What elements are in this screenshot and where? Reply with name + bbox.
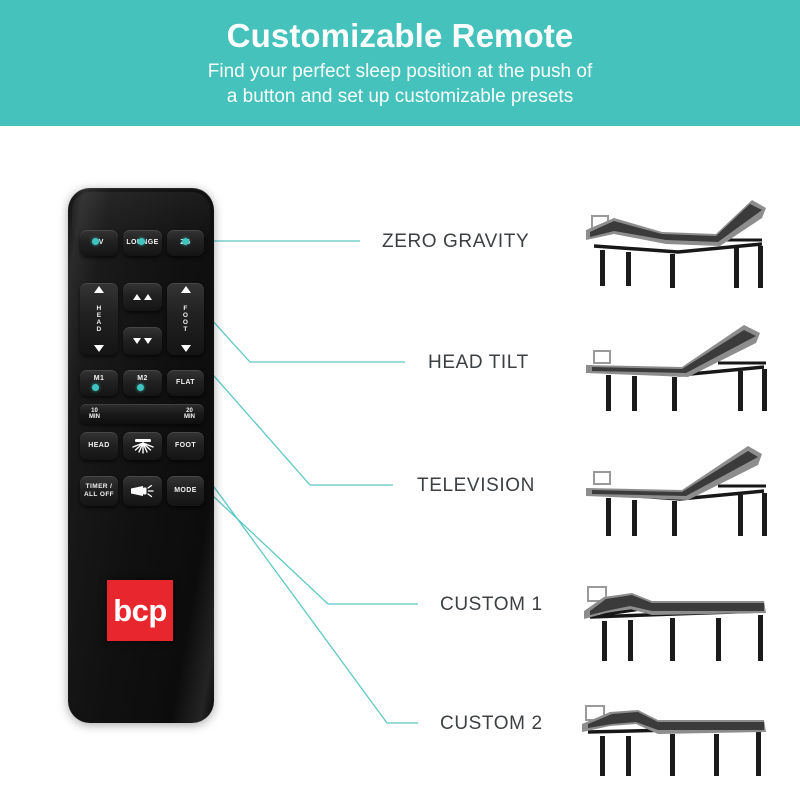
triangle-down-icon (94, 345, 104, 352)
remote-button-mode[interactable]: MODE (167, 476, 204, 506)
remote-button-m2-label: M2 (137, 375, 148, 383)
remote-button-flat[interactable]: FLAT (167, 370, 204, 396)
triangle-up-icon (94, 286, 104, 293)
feature-label-custom-2: CUSTOM 2 (440, 713, 543, 735)
header-subtitle-line-1: Find your perfect sleep position at the … (208, 59, 592, 84)
callout-dot-tv (92, 238, 99, 245)
page-root: Customizable Remote Find your perfect sl… (0, 0, 800, 800)
feature-label-head-tilt: HEAD TILT (428, 352, 529, 374)
remote-button-foot-adjust-label: FOOT (183, 305, 188, 333)
header-subtitle-line-2: a button and set up customizable presets (227, 84, 573, 109)
remote-button-massage-head[interactable]: HEAD (80, 432, 118, 460)
remote-button-timer-all-off[interactable]: TIMER / ALL OFF (80, 476, 118, 506)
feature-label-custom-1: CUSTOM 1 (440, 594, 543, 616)
remote-button-mode-label: MODE (174, 487, 197, 495)
remote-button-flashlight[interactable] (123, 476, 162, 506)
bed-illustration-head-tilt (566, 313, 790, 421)
triangle-up-icon (181, 286, 191, 293)
remote-control: TV LOUNGE ZG HEAD (68, 188, 214, 723)
remote-button-flat-label: FLAT (176, 379, 195, 387)
remote-timer-strip[interactable]: 10 MIN 20 MIN (80, 404, 204, 424)
callout-dot-m2 (137, 384, 144, 391)
remote-button-head-adjust[interactable]: HEAD (80, 283, 118, 355)
remote-button-timer-all-off-label: TIMER / ALL OFF (84, 483, 114, 499)
remote-button-head-adjust-label: HEAD (97, 305, 102, 333)
massage-waves-icon (130, 437, 156, 455)
header-banner: Customizable Remote Find your perfect sl… (0, 0, 800, 126)
page-title: Customizable Remote (227, 16, 574, 56)
bed-illustration-custom-2 (566, 678, 790, 786)
bcp-logo-text: bcp (113, 595, 167, 626)
remote-button-massage-head-label: HEAD (88, 442, 109, 450)
double-triangle-down-icon (133, 338, 152, 344)
feature-label-television: TELEVISION (417, 475, 535, 497)
timer-20min-label: 20 MIN (184, 408, 195, 421)
bed-illustration-zero-gravity (566, 188, 790, 296)
remote-button-foot-adjust[interactable]: FOOT (167, 283, 204, 355)
remote-button-tv[interactable]: TV (80, 230, 118, 256)
callout-dot-m1 (92, 384, 99, 391)
remote-button-double-down[interactable] (123, 327, 162, 355)
remote-button-m2[interactable]: M2 (123, 370, 162, 396)
flashlight-icon (129, 483, 157, 499)
remote-button-m1[interactable]: M1 (80, 370, 118, 396)
callout-dot-lounge (138, 238, 145, 245)
bed-illustration-television (566, 438, 790, 546)
remote-button-massage-foot[interactable]: FOOT (167, 432, 204, 460)
remote-button-massage-intensity[interactable] (123, 432, 162, 460)
remote-button-massage-foot-label: FOOT (175, 442, 196, 450)
triangle-down-icon (181, 345, 191, 352)
remote-button-double-up[interactable] (123, 283, 162, 311)
bcp-logo: bcp (107, 580, 173, 641)
remote-button-m1-label: M1 (94, 375, 105, 383)
bed-illustration-custom-1 (566, 563, 790, 671)
feature-label-zero-gravity: ZERO GRAVITY (382, 231, 529, 253)
timer-10min-label: 10 MIN (89, 408, 100, 421)
double-triangle-up-icon (133, 294, 152, 300)
callout-dot-zg (182, 238, 189, 245)
